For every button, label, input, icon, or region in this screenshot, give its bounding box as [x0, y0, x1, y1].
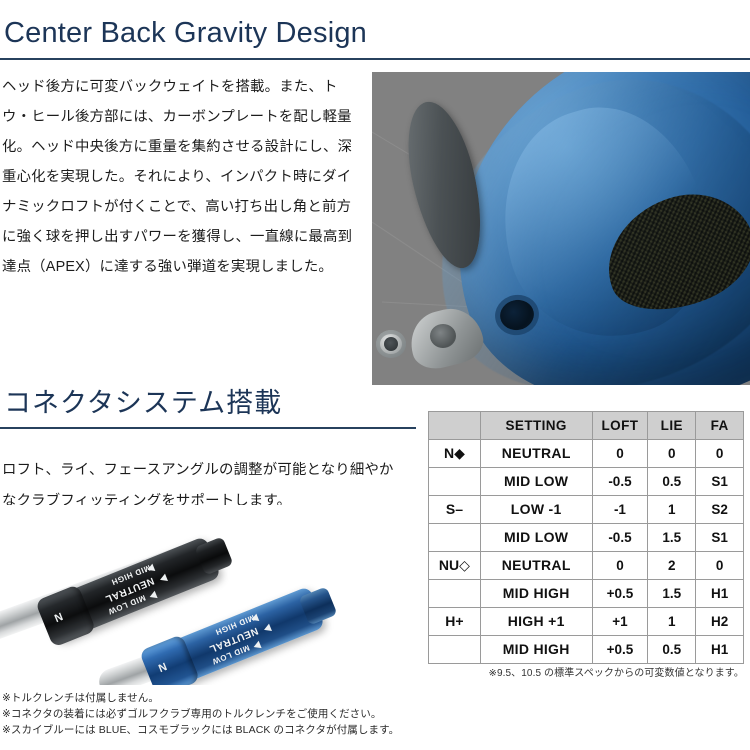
table-cell-num: 0 — [592, 440, 648, 468]
table-header-lie: LIE — [648, 412, 696, 440]
triangle-marker-icon — [148, 591, 157, 601]
table-header-row: SETTING LOFT LIE FA — [429, 412, 744, 440]
table-cell-setting: LOW -1 — [480, 496, 592, 524]
triangle-marker-icon — [263, 624, 272, 634]
triangle-marker-icon — [252, 641, 261, 651]
table-cell-num: 0.5 — [648, 468, 696, 496]
table-cell-num: 1 — [648, 496, 696, 524]
table-cell-code — [429, 524, 481, 552]
table-cell-num: -0.5 — [592, 468, 648, 496]
table-cell-setting: MID LOW — [480, 468, 592, 496]
table-cell-num: 1.5 — [648, 580, 696, 608]
table-cell-setting: HIGH +1 — [480, 608, 592, 636]
table-cell-setting: NEUTRAL — [480, 440, 592, 468]
footnote-item: ※コネクタの装着には必ずゴルフクラブ専用のトルクレンチをご使用ください。 — [2, 706, 432, 722]
gravity-description: ヘッド後方に可変バックウェイトを搭載。また、トウ・ヒール後方部には、カーボンプレ… — [2, 72, 362, 282]
table-cell-code: NU◇ — [429, 552, 481, 580]
table-cell-num: +0.5 — [592, 580, 648, 608]
triangle-marker-icon — [146, 564, 155, 574]
connector-black-tip — [194, 536, 233, 575]
gravity-section-header: Center Back Gravity Design — [0, 18, 750, 60]
table-header-loft: LOFT — [592, 412, 648, 440]
table-header-setting: SETTING — [480, 412, 592, 440]
table-cell-setting: MID HIGH — [480, 636, 592, 664]
table-cell-num: +0.5 — [592, 636, 648, 664]
table-cell-num: 1 — [648, 608, 696, 636]
spec-table: SETTING LOFT LIE FA N◆NEUTRAL000MID LOW-… — [428, 411, 744, 664]
connector-section-header: コネクタシステム搭載 — [0, 389, 416, 429]
screw-icon — [376, 330, 406, 358]
table-cell-code: N◆ — [429, 440, 481, 468]
connector-image: N NEUTRAL MID HIGH MID LOW N NEUTRAL MID… — [0, 505, 418, 685]
connector-title-divider — [0, 427, 416, 429]
table-row: S–LOW -1-11S2 — [429, 496, 744, 524]
table-row: MID LOW-0.51.5S1 — [429, 524, 744, 552]
table-cell-num: 1.5 — [648, 524, 696, 552]
table-cell-num: S1 — [696, 524, 744, 552]
table-cell-num: H2 — [696, 608, 744, 636]
table-cell-code — [429, 468, 481, 496]
page-title: Center Back Gravity Design — [0, 18, 750, 50]
table-cell-num: H1 — [696, 580, 744, 608]
table-cell-num: -0.5 — [592, 524, 648, 552]
table-row: NU◇NEUTRAL020 — [429, 552, 744, 580]
title-divider — [0, 58, 750, 60]
table-cell-num: 0 — [696, 552, 744, 580]
weight-hole — [430, 324, 456, 348]
connector-black-collar — [35, 584, 96, 648]
table-cell-num: 0 — [696, 440, 744, 468]
connector-blue: N NEUTRAL MID HIGH MID LOW — [144, 586, 326, 685]
table-cell-num: 2 — [648, 552, 696, 580]
table-cell-num: 0.5 — [648, 636, 696, 664]
table-header-code — [429, 412, 481, 440]
gravity-paragraph: ヘッド後方に可変バックウェイトを搭載。また、トウ・ヒール後方部には、カーボンプレ… — [2, 72, 362, 282]
footnote-item: ※スカイブルーには BLUE、コスモブラックには BLACK のコネクタが付属し… — [2, 722, 432, 738]
connector-title: コネクタシステム搭載 — [0, 389, 416, 419]
table-row: MID HIGH+0.50.5H1 — [429, 636, 744, 664]
table-cell-num: +1 — [592, 608, 648, 636]
footnote-item: ※トルクレンチは付属しません。 — [2, 690, 432, 706]
table-cell-setting: NEUTRAL — [480, 552, 592, 580]
table-cell-code: S– — [429, 496, 481, 524]
table-row: N◆NEUTRAL000 — [429, 440, 744, 468]
table-cell-code — [429, 636, 481, 664]
connector-black: N NEUTRAL MID HIGH MID LOW — [40, 536, 222, 643]
table-cell-num: S2 — [696, 496, 744, 524]
table-header-fa: FA — [696, 412, 744, 440]
table-row: H+HIGH +1+11H2 — [429, 608, 744, 636]
table-cell-num: 0 — [648, 440, 696, 468]
table-cell-code — [429, 580, 481, 608]
driver-head-image — [372, 72, 750, 385]
table-cell-code: H+ — [429, 608, 481, 636]
table-cell-num: S1 — [696, 468, 744, 496]
table-cell-setting: MID HIGH — [480, 580, 592, 608]
triangle-marker-icon — [250, 614, 259, 624]
connector-blue-tip — [298, 586, 337, 625]
table-cell-num: H1 — [696, 636, 744, 664]
footnote-list: ※トルクレンチは付属しません。 ※コネクタの装着には必ずゴルフクラブ専用のトルク… — [2, 690, 432, 738]
triangle-marker-icon — [159, 574, 168, 584]
table-row: MID LOW-0.50.5S1 — [429, 468, 744, 496]
table-cell-num: 0 — [592, 552, 648, 580]
table-footnote: ※9.5、10.5 の標準スペックからの可変数値となります。 — [428, 664, 744, 679]
table-row: MID HIGH+0.51.5H1 — [429, 580, 744, 608]
table-cell-setting: MID LOW — [480, 524, 592, 552]
table-cell-num: -1 — [592, 496, 648, 524]
